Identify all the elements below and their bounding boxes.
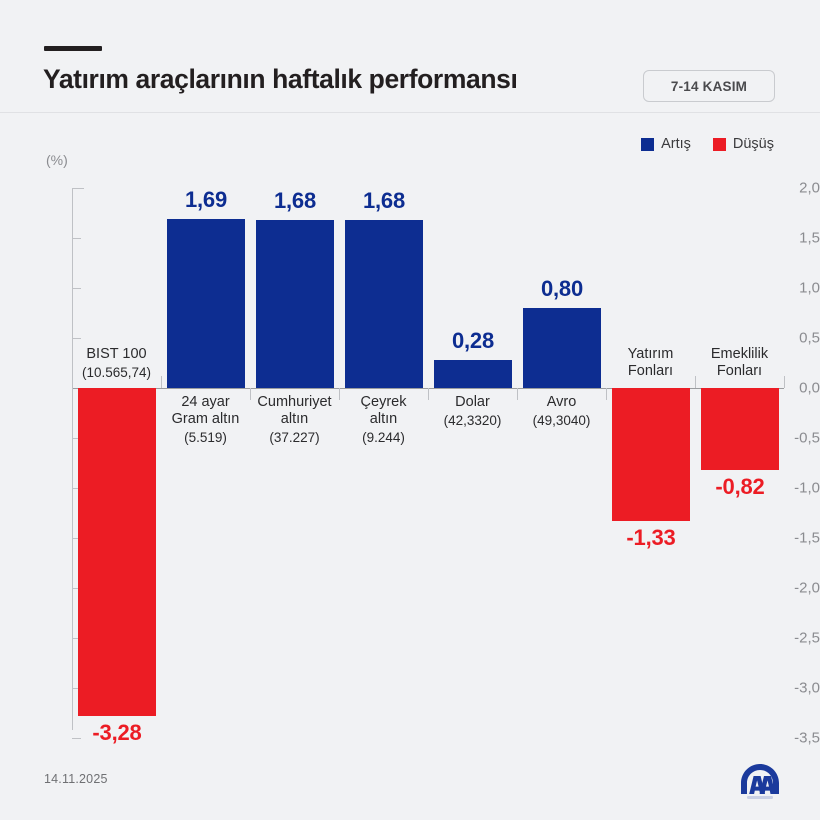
category-label-avro: Avro(49,3040): [512, 394, 611, 429]
category-label-line1-avro: Avro: [547, 394, 577, 410]
category-value-avro: (49,3040): [512, 412, 611, 429]
bar-value-bist-100: -3,28: [61, 720, 173, 746]
bar-ceyrek-altin[interactable]: [345, 220, 423, 388]
bar-value-ceyrek-altin: 1,68: [328, 188, 440, 214]
category-label-gram-altin: 24 ayarGram altın(5.519): [156, 394, 255, 446]
category-label-emeklilik-fonlari: EmeklilikFonları: [690, 346, 789, 380]
category-label-dolar: Dolar(42,3320): [423, 394, 522, 429]
category-divider: [72, 388, 73, 400]
category-divider: [784, 376, 785, 388]
category-label-line1-emeklilik-fonlari: Emeklilik: [711, 346, 768, 362]
page-footer: 14.11.2025: [0, 752, 820, 820]
title-accent-rule: [44, 46, 102, 51]
bar-value-yatirim-fonlari: -1,33: [595, 525, 707, 551]
bar-avro[interactable]: [523, 308, 601, 388]
category-label-line2-cumhuriyet-altin: altın: [281, 411, 308, 427]
legend-swatch-decrease: [713, 138, 726, 151]
category-label-line1-bist-100: BIST 100: [86, 346, 146, 362]
date-range-badge: 7-14 KASIM: [643, 70, 775, 102]
bar-bist-100[interactable]: [78, 388, 156, 716]
category-label-line2-ceyrek-altin: altın: [370, 411, 397, 427]
category-value-cumhuriyet-altin: (37.227): [245, 429, 344, 446]
footer-date: 14.11.2025: [44, 772, 108, 786]
category-value-ceyrek-altin: (9.244): [334, 429, 433, 446]
category-label-ceyrek-altin: Çeyrekaltın(9.244): [334, 394, 433, 446]
category-value-gram-altin: (5.519): [156, 429, 255, 446]
bar-yatirim-fonlari[interactable]: [612, 388, 690, 521]
bar-series: -3,28BIST 100(10.565,74)1,6924 ayarGram …: [0, 150, 820, 750]
category-label-line1-ceyrek-altin: Çeyrek: [361, 394, 407, 410]
category-label-line2-yatirim-fonlari: Fonları: [628, 363, 673, 379]
page-title: Yatırım araçlarının haftalık performansı: [43, 64, 517, 95]
category-label-line2-gram-altin: Gram altın: [172, 411, 240, 427]
date-range-badge-label: 7-14 KASIM: [671, 79, 747, 94]
category-value-bist-100: (10.565,74): [67, 364, 166, 381]
bar-value-emeklilik-fonlari: -0,82: [684, 474, 796, 500]
header-divider: [0, 112, 820, 113]
category-label-line1-cumhuriyet-altin: Cumhuriyet: [257, 394, 331, 410]
category-label-line2-emeklilik-fonlari: Fonları: [717, 363, 762, 379]
bar-dolar[interactable]: [434, 360, 512, 388]
page-header: Yatırım araçlarının haftalık performansı…: [0, 0, 820, 112]
category-label-cumhuriyet-altin: Cumhuriyetaltın(37.227): [245, 394, 344, 446]
bar-chart: (%) 2,01,51,00,50,0-0,5-1,0-1,5-2,0-2,5-…: [0, 150, 820, 750]
category-divider: [606, 388, 607, 400]
category-divider: [161, 376, 162, 388]
category-label-line1-dolar: Dolar: [455, 394, 490, 410]
bar-value-dolar: 0,28: [417, 328, 529, 354]
category-label-bist-100: BIST 100(10.565,74): [67, 346, 166, 381]
category-label-yatirim-fonlari: YatırımFonları: [601, 346, 700, 380]
category-value-dolar: (42,3320): [423, 412, 522, 429]
bar-cumhuriyet-altin[interactable]: [256, 220, 334, 388]
category-label-line1-yatirim-fonlari: Yatırım: [628, 346, 674, 362]
aa-logo: [736, 760, 784, 804]
bar-gram-altin[interactable]: [167, 219, 245, 388]
bar-value-avro: 0,80: [506, 276, 618, 302]
bar-emeklilik-fonlari[interactable]: [701, 388, 779, 470]
legend-swatch-increase: [641, 138, 654, 151]
category-label-line1-gram-altin: 24 ayar: [181, 394, 229, 410]
